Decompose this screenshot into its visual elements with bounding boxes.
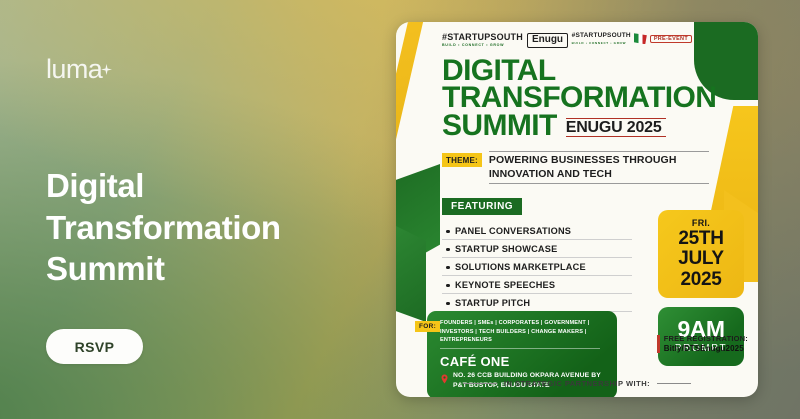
- list-item: PANEL CONVERSATIONS: [442, 222, 632, 240]
- left-panel: luma Digital Transformation Summit RSVP: [0, 0, 395, 419]
- headline-line-3: SUMMIT: [442, 112, 557, 140]
- headline-line-2: TRANSFORMATION: [442, 84, 742, 112]
- date-day-of-week: FRI.: [664, 218, 738, 228]
- poster-theme: THEME: POWERING BUSINESSES THROUGH INNOV…: [442, 151, 742, 184]
- luma-wordmark: luma: [46, 54, 102, 84]
- theme-label: THEME:: [442, 153, 482, 167]
- list-item: KEYNOTE SPEECHES: [442, 276, 632, 294]
- nigeria-flag-icon: [634, 33, 647, 44]
- registration-block: FREE REGISTRATION: Bitly/DTSEnugu2025: [657, 334, 748, 353]
- registration-link[interactable]: Bitly/DTSEnugu2025: [664, 344, 748, 353]
- startupsouth-mark-right: #STARTUPSOUTH BUILD • CONNECT • GROW PRE…: [572, 33, 692, 45]
- event-poster-image: #STARTUPSOUTH BUILD • CONNECT • GROW Enu…: [396, 22, 758, 397]
- featuring-label: FEATURING: [442, 198, 522, 215]
- registration-label: FREE REGISTRATION:: [664, 334, 748, 343]
- startupsouth-hashtag-right: #STARTUPSOUTH: [572, 33, 631, 40]
- partnership-footer: IN STRATEGIC PARTNERSHIP WITH:: [396, 379, 758, 388]
- list-item: STARTUP SHOWCASE: [442, 240, 632, 258]
- date-year: 2025: [664, 270, 738, 289]
- divider-right: [657, 383, 691, 384]
- event-share-card: luma Digital Transformation Summit RSVP …: [0, 0, 800, 419]
- list-item: SOLUTIONS MARKETPLACE: [442, 258, 632, 276]
- date-day: 25TH: [664, 229, 738, 248]
- list-item: STARTUP PITCH: [442, 294, 632, 312]
- sparkle-icon: [101, 53, 112, 64]
- enugu-chip: Enugu: [527, 33, 568, 48]
- date-month: JULY: [664, 249, 738, 268]
- rsvp-button[interactable]: RSVP: [46, 329, 143, 364]
- pre-event-badge: PRE-EVENT: [650, 35, 692, 43]
- poster-header: #STARTUPSOUTH BUILD • CONNECT • GROW Enu…: [396, 22, 758, 48]
- divider-left: [463, 383, 497, 384]
- luma-logo[interactable]: luma: [46, 56, 102, 83]
- theme-text: POWERING BUSINESSES THROUGH INNOVATION A…: [489, 151, 709, 184]
- startupsouth-mark-left: #STARTUPSOUTH BUILD • CONNECT • GROW Enu…: [442, 33, 568, 48]
- audience-text: FOUNDERS | SMEs | CORPORATES | GOVERNMEN…: [440, 319, 600, 349]
- startupsouth-tagline-left: BUILD • CONNECT • GROW: [442, 44, 523, 48]
- date-card: FRI. 25TH JULY 2025: [658, 210, 744, 298]
- venue-name: CAFÉ ONE: [440, 354, 607, 369]
- startupsouth-tagline-right: BUILD • CONNECT • GROW: [572, 42, 631, 45]
- for-label: FOR:: [415, 321, 440, 332]
- poster-edition: ENUGU 2025: [566, 118, 662, 138]
- page-title: Digital Transformation Summit: [46, 165, 336, 290]
- startupsouth-hashtag-left: #STARTUPSOUTH: [442, 33, 523, 42]
- featuring-list: PANEL CONVERSATIONS STARTUP SHOWCASE SOL…: [442, 222, 632, 312]
- partnership-text: IN STRATEGIC PARTNERSHIP WITH:: [504, 379, 650, 388]
- headline-line-1: DIGITAL: [442, 57, 742, 85]
- poster-headline: DIGITAL TRANSFORMATION SUMMIT ENUGU 2025: [442, 57, 742, 140]
- registration-accent-bar: [657, 335, 660, 353]
